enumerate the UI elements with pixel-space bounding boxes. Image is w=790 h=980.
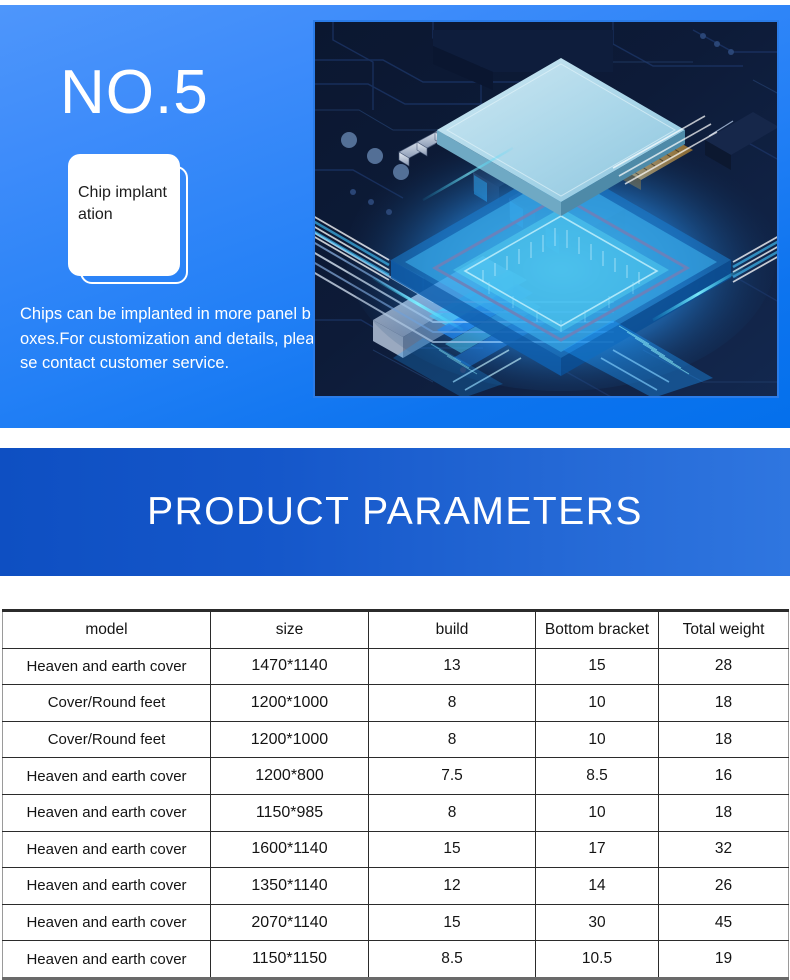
cell-model: Cover/Round feet — [3, 685, 211, 722]
product-parameters-banner: PRODUCT PARAMETERS — [0, 448, 790, 576]
cell-model: Heaven and earth cover — [3, 758, 211, 795]
column-header-build: build — [369, 611, 536, 649]
table-row: Heaven and earth cover 1150*985 8 10 18 — [3, 794, 789, 831]
cell-bottom-bracket: 10 — [536, 794, 659, 831]
page-title: NO.5 — [60, 57, 209, 129]
column-header-total-weight: Total weight — [659, 611, 789, 649]
cell-build: 8.5 — [369, 941, 536, 979]
cell-bottom-bracket: 10.5 — [536, 941, 659, 979]
cell-model: Heaven and earth cover — [3, 904, 211, 941]
cell-bottom-bracket: 10 — [536, 685, 659, 722]
cell-bottom-bracket: 15 — [536, 648, 659, 685]
card-front: Chip implantation — [68, 154, 180, 276]
cell-bottom-bracket: 30 — [536, 904, 659, 941]
cell-model: Heaven and earth cover — [3, 941, 211, 979]
cell-model: Heaven and earth cover — [3, 831, 211, 868]
cell-model: Heaven and earth cover — [3, 794, 211, 831]
table-row: Heaven and earth cover 1200*800 7.5 8.5 … — [3, 758, 789, 795]
column-header-model: model — [3, 611, 211, 649]
cell-total-weight: 16 — [659, 758, 789, 795]
cell-size: 1150*1150 — [211, 941, 369, 979]
cell-size: 2070*1140 — [211, 904, 369, 941]
cell-size: 1150*985 — [211, 794, 369, 831]
cell-build: 15 — [369, 831, 536, 868]
table-row: Heaven and earth cover 1350*1140 12 14 2… — [3, 868, 789, 905]
cell-size: 1470*1140 — [211, 648, 369, 685]
cell-total-weight: 19 — [659, 941, 789, 979]
cell-size: 1200*1000 — [211, 721, 369, 758]
table-row: Heaven and earth cover 1470*1140 13 15 2… — [3, 648, 789, 685]
cell-build: 15 — [369, 904, 536, 941]
chip-card-stack: Chip implantation — [68, 154, 192, 288]
cell-total-weight: 45 — [659, 904, 789, 941]
table-header-row: model size build Bottom bracket Total we… — [3, 611, 789, 649]
cell-model: Heaven and earth cover — [3, 868, 211, 905]
cell-total-weight: 28 — [659, 648, 789, 685]
cell-total-weight: 18 — [659, 794, 789, 831]
cell-build: 8 — [369, 685, 536, 722]
cell-total-weight: 18 — [659, 685, 789, 722]
card-title: Chip implantation — [78, 182, 174, 226]
cell-total-weight: 32 — [659, 831, 789, 868]
column-header-size: size — [211, 611, 369, 649]
spec-table-container: model size build Bottom bracket Total we… — [2, 609, 788, 980]
table-row: Cover/Round feet 1200*1000 8 10 18 — [3, 685, 789, 722]
column-header-bottom-bracket: Bottom bracket — [536, 611, 659, 649]
cell-bottom-bracket: 17 — [536, 831, 659, 868]
cell-bottom-bracket: 10 — [536, 721, 659, 758]
cell-size: 1200*800 — [211, 758, 369, 795]
banner-title: PRODUCT PARAMETERS — [0, 448, 790, 576]
table-row: Heaven and earth cover 1600*1140 15 17 3… — [3, 831, 789, 868]
spec-table: model size build Bottom bracket Total we… — [2, 609, 789, 980]
cell-build: 8 — [369, 721, 536, 758]
cell-bottom-bracket: 8.5 — [536, 758, 659, 795]
circuit-board-illustration — [313, 20, 779, 398]
cell-size: 1350*1140 — [211, 868, 369, 905]
table-row: Heaven and earth cover 2070*1140 15 30 4… — [3, 904, 789, 941]
cell-model: Heaven and earth cover — [3, 648, 211, 685]
table-row: Heaven and earth cover 1150*1150 8.5 10.… — [3, 941, 789, 979]
circuit-board-image — [313, 20, 779, 398]
table-body: Heaven and earth cover 1470*1140 13 15 2… — [3, 648, 789, 978]
cell-model: Cover/Round feet — [3, 721, 211, 758]
cell-total-weight: 26 — [659, 868, 789, 905]
cell-build: 12 — [369, 868, 536, 905]
cell-total-weight: 18 — [659, 721, 789, 758]
table-row: Cover/Round feet 1200*1000 8 10 18 — [3, 721, 789, 758]
cell-bottom-bracket: 14 — [536, 868, 659, 905]
cell-build: 8 — [369, 794, 536, 831]
cell-size: 1600*1140 — [211, 831, 369, 868]
cell-build: 7.5 — [369, 758, 536, 795]
hero-description: Chips can be implanted in more panel box… — [20, 302, 316, 376]
cell-build: 13 — [369, 648, 536, 685]
cell-size: 1200*1000 — [211, 685, 369, 722]
